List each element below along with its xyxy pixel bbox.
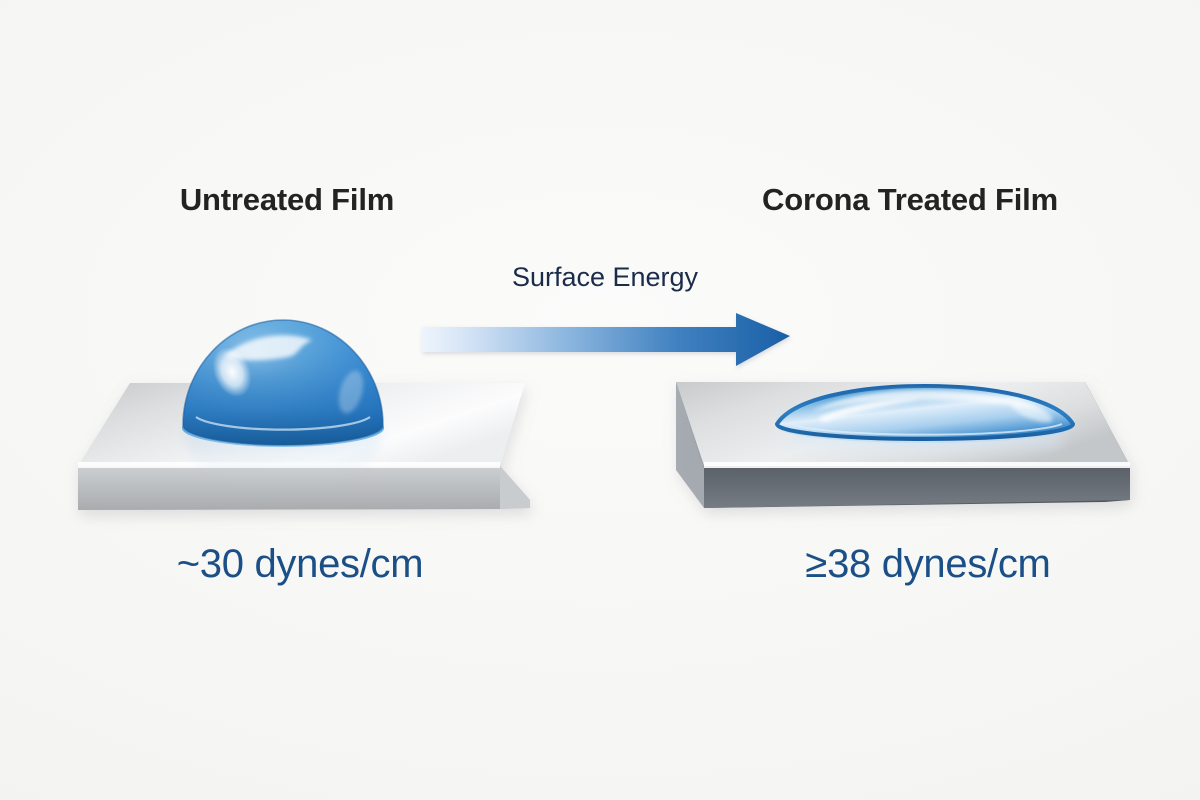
substrate-slab-treated: [676, 382, 1130, 508]
figure-canvas: Untreated Film Corona Treated Film Surfa…: [0, 0, 1200, 800]
dome-reflection: [185, 430, 381, 492]
droplet-untreated: [182, 320, 384, 447]
lens-highlight-band: [812, 390, 1046, 412]
substrate-slab-untreated: [78, 383, 530, 510]
illustration-scene: [0, 0, 1200, 800]
droplet-highlight-streak: [224, 335, 312, 360]
surface-energy-arrow: [415, 305, 800, 375]
panel-title-treated: Corona Treated Film: [712, 182, 1108, 218]
value-untreated: ~30 dynes/cm: [115, 542, 485, 587]
value-treated: ≥38 dynes/cm: [748, 542, 1108, 587]
lens-highlight-right: [1009, 397, 1055, 426]
arrow-shape: [422, 313, 790, 366]
arrow-caption: Surface Energy: [420, 262, 790, 293]
spread-underglow-treated: [785, 422, 1065, 462]
droplet-highlight-primary: [206, 341, 259, 403]
contact-shadow-untreated: [173, 410, 393, 448]
panel-title-untreated: Untreated Film: [142, 182, 432, 218]
droplet-highlight-secondary: [334, 368, 367, 416]
lens-highlight-streak: [818, 399, 922, 422]
spread-halo-treated: [760, 402, 1090, 454]
droplet-treated: [777, 386, 1073, 443]
